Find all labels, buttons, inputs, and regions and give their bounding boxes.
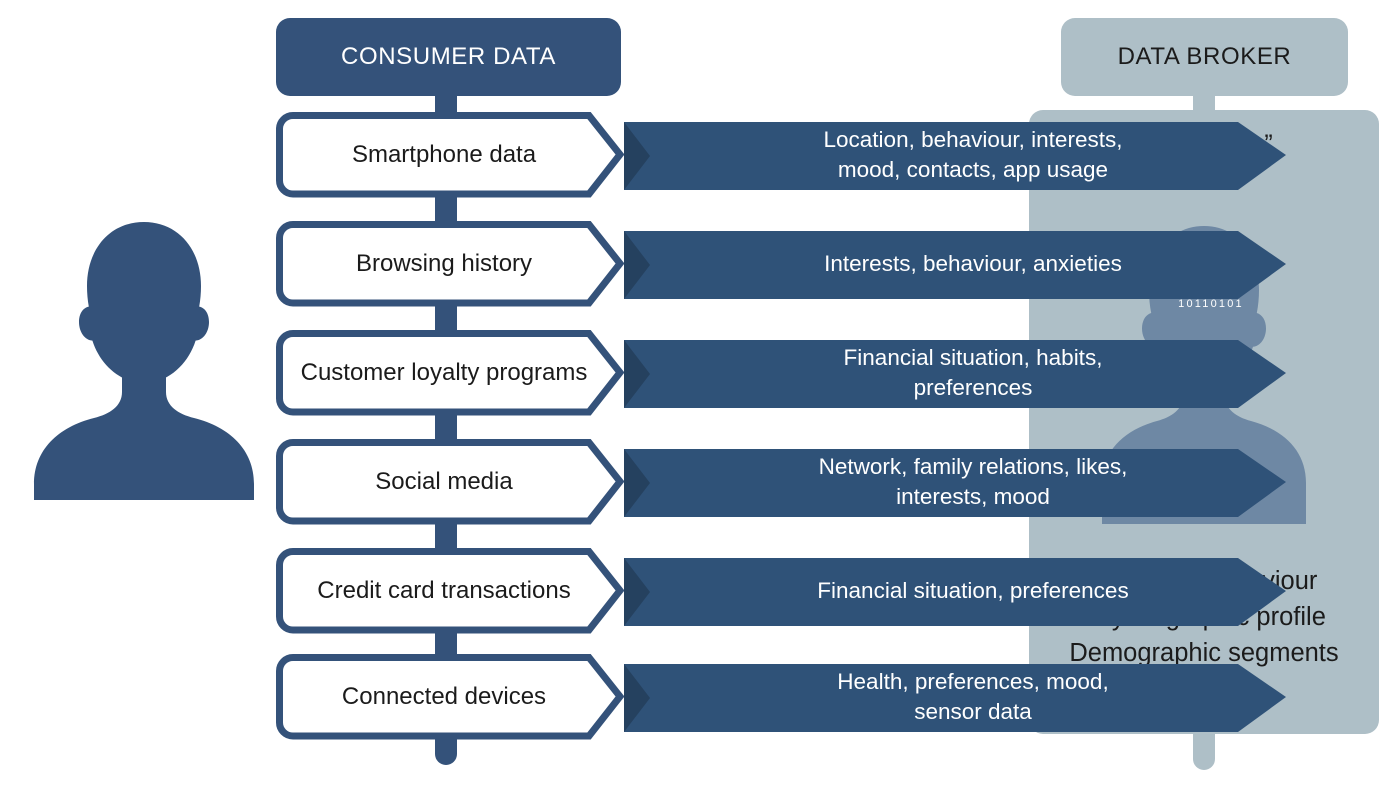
source-label: Connected devices [276,654,612,740]
data-flow-row: Credit card transactions Financial situa… [276,548,1326,634]
attribute-line: Financial situation, habits, [844,345,1103,370]
data-broker-header-label: DATA BROKER [1118,43,1292,71]
source-label: Social media [276,439,612,525]
data-flow-row: Browsing history Interests, behaviour, a… [276,221,1326,307]
attribute-label: Health, preferences, mood,sensor data [668,662,1278,732]
attribute-label: Financial situation, habits,preferences [668,338,1278,408]
attribute-line: interests, mood [896,484,1050,509]
attribute-label: Interests, behaviour, anxieties [668,229,1278,299]
diagram-canvas: 10110101 “Digital twin” Predicted behavi… [0,0,1388,791]
attribute-line: Health, preferences, mood, [837,669,1108,694]
attribute-label: Network, family relations, likes,interes… [668,447,1278,517]
data-flow-row: Connected devices Health, preferences, m… [276,654,1326,740]
attribute-line: mood, contacts, app usage [838,157,1108,182]
attribute-label: Location, behaviour, interests,mood, con… [668,120,1278,190]
source-label: Credit card transactions [276,548,612,634]
attribute-label: Financial situation, preferences [668,556,1278,626]
attribute-line: Financial situation, preferences [817,576,1128,606]
data-flow-row: Social media Network, family relations, … [276,439,1326,525]
attribute-line: Location, behaviour, interests, [824,127,1123,152]
consumer-data-header-label: CONSUMER DATA [341,43,556,71]
attribute-line: Interests, behaviour, anxieties [824,249,1122,279]
source-label: Smartphone data [276,112,612,198]
source-label: Customer loyalty programs [276,330,612,416]
attribute-line: sensor data [914,699,1032,724]
consumer-data-header: CONSUMER DATA [276,18,621,96]
source-label: Browsing history [276,221,612,307]
data-broker-header: DATA BROKER [1061,18,1348,96]
data-flow-row: Smartphone data Location, behaviour, int… [276,112,1326,198]
data-flow-row: Customer loyalty programs Financial situ… [276,330,1326,416]
attribute-line: preferences [914,375,1033,400]
attribute-line: Network, family relations, likes, [819,454,1128,479]
consumer-person-silhouette-icon [30,218,258,500]
